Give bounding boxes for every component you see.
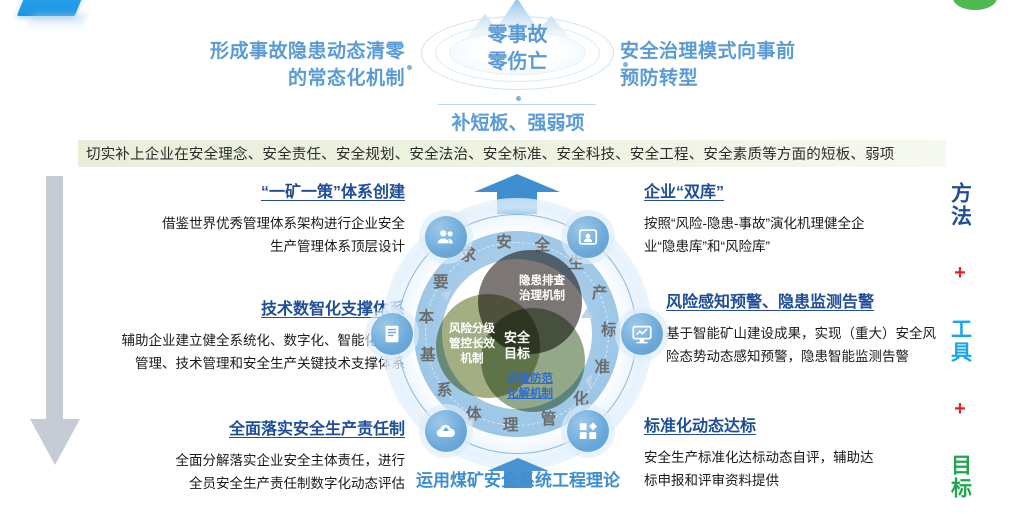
block-right-1-title[interactable]: 企业“双库” bbox=[644, 178, 974, 202]
venn-label-core: 安全 目标 bbox=[492, 330, 542, 362]
block-right-1: 企业“双库” 按照“风险-隐患-事故”演化机理健全企 业“隐患库”和“风险库” bbox=[644, 178, 974, 258]
badge-dot-bottom bbox=[516, 96, 521, 101]
block-left-2-title[interactable]: 技术数智化支撑体系 bbox=[45, 295, 405, 319]
block-left-2-line1: 辅助企业建立健全系统化、数字化、智能化安全 bbox=[45, 329, 405, 352]
grid-apps-icon bbox=[577, 420, 599, 442]
legend-plus-1: + bbox=[954, 264, 966, 282]
bubble-monitor-chart[interactable] bbox=[621, 313, 663, 355]
subhead-text: 补短板、强弱项 bbox=[410, 108, 626, 135]
block-right-3-line1: 安全生产标准化达标动态自评，辅助达 bbox=[644, 446, 974, 469]
block-right-3-title[interactable]: 标准化动态达标 bbox=[644, 412, 974, 436]
block-left-3: 全面落实安全生产责任制 全面分解落实企业安全主体责任，进行 全员安全生产责任制数… bbox=[95, 415, 405, 495]
right-legend: 方法 + 工具 + 目标 bbox=[938, 182, 982, 500]
zero-injury-line2: 零伤亡 bbox=[425, 49, 610, 76]
block-left-1-line1: 借鉴世界优秀管理体系架构进行企业安全 bbox=[55, 212, 405, 235]
corner-chevron-shadow bbox=[27, 14, 87, 30]
zero-accident-line1: 零事故 bbox=[425, 22, 610, 49]
up-arrow-head bbox=[474, 174, 560, 192]
block-left-3-title[interactable]: 全面落实安全生产责任制 bbox=[95, 415, 405, 439]
core-circular-diagram: 安全生产标准化管理体系基本要求 隐患排查 治理机制 风险分级 管控长效 机制 风… bbox=[381, 198, 653, 470]
slide-canvas: 形成事故隐患动态清零 的常态化机制 安全治理模式向事前 预防转型 零 bbox=[0, 0, 1015, 514]
legend-item-method: 方法 bbox=[949, 182, 972, 228]
block-left-1: “一矿一策”体系创建 借鉴世界优秀管理体系架构进行企业安全 生产管理体系顶层设计 bbox=[55, 178, 405, 258]
venn-diagram: 隐患排查 治理机制 风险分级 管控长效 机制 风险防范 化解机制 安全 目标 bbox=[436, 250, 598, 418]
zero-accident-badge: 零事故 零伤亡 bbox=[425, 0, 610, 108]
bottom-caption: 运用煤矿安全系统工程理论 bbox=[388, 466, 648, 491]
block-left-1-title[interactable]: “一矿一策”体系创建 bbox=[55, 178, 405, 202]
book-icon bbox=[381, 323, 403, 345]
legend-plus-2: + bbox=[954, 400, 966, 418]
zero-accident-text: 零事故 零伤亡 bbox=[425, 22, 610, 76]
block-left-1-line2: 生产管理体系顶层设计 bbox=[55, 235, 405, 258]
block-right-3-line2: 标申报和评审资料提供 bbox=[644, 469, 974, 492]
shortcoming-banner: 切实补上企业在安全理念、安全责任、安全规划、安全法治、安全标准、安全科技、安全工… bbox=[78, 140, 946, 167]
headline-right: 安全治理模式向事前 预防转型 bbox=[620, 38, 880, 92]
bubble-id-card[interactable] bbox=[567, 216, 609, 258]
block-right-1-line2: 业“隐患库”和“风险库” bbox=[644, 235, 974, 258]
badge-dot-right bbox=[623, 62, 628, 67]
legend-item-goal: 目标 bbox=[949, 454, 972, 500]
badge-dot-left bbox=[407, 65, 412, 70]
venn-label-top: 隐患排查 治理机制 bbox=[502, 274, 582, 304]
cloud-upload-icon bbox=[435, 420, 457, 442]
headline-left: 形成事故隐患动态清零 的常态化机制 bbox=[150, 38, 405, 92]
bubble-cloud-upload[interactable] bbox=[425, 410, 467, 452]
id-card-icon bbox=[577, 226, 599, 248]
block-left-3-line1: 全面分解落实企业安全主体责任，进行 bbox=[95, 449, 405, 472]
users-icon bbox=[435, 226, 457, 248]
bubble-book[interactable] bbox=[371, 313, 413, 355]
subhead-rule bbox=[438, 104, 596, 105]
venn-label-bottom[interactable]: 风险防范 化解机制 bbox=[490, 372, 570, 402]
bubble-users[interactable] bbox=[425, 216, 467, 258]
bubble-grid-apps[interactable] bbox=[567, 410, 609, 452]
block-right-1-line1: 按照“风险-隐患-事故”演化机理健全企 bbox=[644, 212, 974, 235]
block-right-3: 标准化动态达标 安全生产标准化达标动态自评，辅助达 标申报和评审资料提供 bbox=[644, 412, 974, 492]
block-left-2-line2: 管理、技术管理和安全生产关键技术支撑体系 bbox=[45, 352, 405, 375]
down-arrow-head bbox=[30, 419, 80, 465]
block-left-3-line2: 全员安全生产责任制数字化动态评估 bbox=[95, 472, 405, 495]
block-left-2: 技术数智化支撑体系 辅助企业建立健全系统化、数字化、智能化安全 管理、技术管理和… bbox=[45, 295, 405, 375]
monitor-chart-icon bbox=[631, 323, 653, 345]
ring-char-4: 标 bbox=[599, 321, 619, 341]
corner-green-decoration bbox=[953, 0, 997, 10]
legend-item-tool: 工具 bbox=[949, 318, 972, 364]
ring-char-8: 理 bbox=[501, 416, 521, 436]
